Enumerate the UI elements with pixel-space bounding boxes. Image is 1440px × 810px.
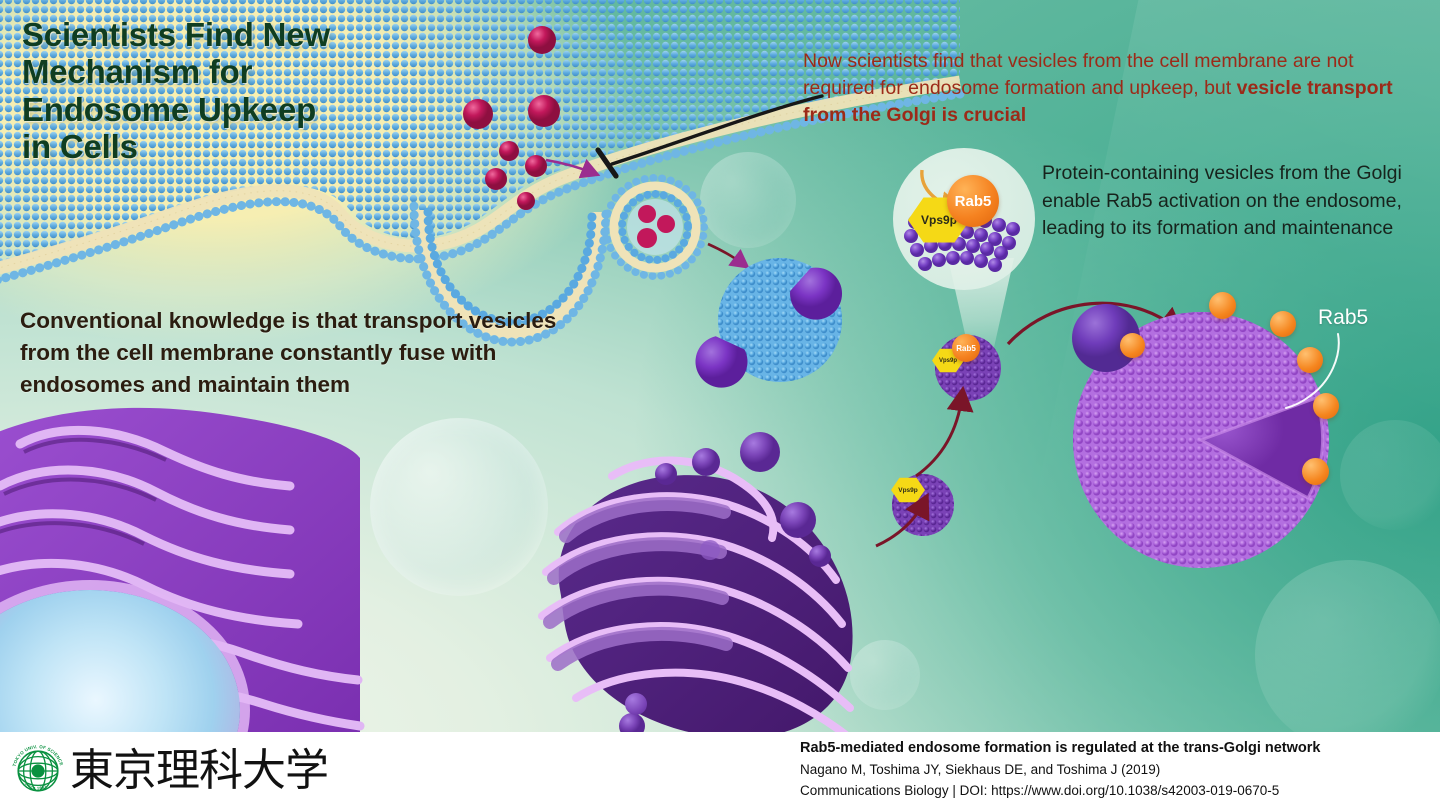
university-name-jp: 東京理科大学 xyxy=(70,744,328,798)
page-title: Scientists Find New Mechanism for Endoso… xyxy=(22,16,472,165)
annotation-golgi-rab5: Protein-containing vesicles from the Gol… xyxy=(1042,160,1414,243)
rab5-dot xyxy=(1209,292,1236,319)
rab5-endosome-label: Rab5 xyxy=(1318,306,1368,330)
citation-block: Rab5-mediated endosome formation is regu… xyxy=(800,738,1440,802)
footer-bar: TOKYO UNIV. OF SCIENCE since 1881 東京理科大学… xyxy=(0,732,1440,810)
infographic-canvas: Vps9p Rab5 xyxy=(0,0,1440,810)
citation-authors: Nagano M, Toshima JY, Siekhaus DE, and T… xyxy=(800,760,1440,781)
annotation-conventional-knowledge: Conventional knowledge is that transport… xyxy=(20,305,600,401)
rab5-leader-line xyxy=(1280,330,1360,416)
rab5-sphere-callout: Rab5 xyxy=(947,175,999,227)
citation-title: Rab5-mediated endosome formation is regu… xyxy=(800,738,1440,760)
annotation-top-right: Now scientists find that vesicles from t… xyxy=(803,48,1423,129)
rab5-dot xyxy=(1120,333,1145,358)
citation-source: Communications Biology | DOI: https://ww… xyxy=(800,781,1440,802)
rab5-dot xyxy=(1302,458,1329,485)
trans-golgi-network xyxy=(520,420,880,750)
free-vesicle xyxy=(625,693,647,715)
university-logo-icon: TOKYO UNIV. OF SCIENCE since 1881 xyxy=(8,741,68,801)
rab5-label: Rab5 xyxy=(955,193,992,210)
